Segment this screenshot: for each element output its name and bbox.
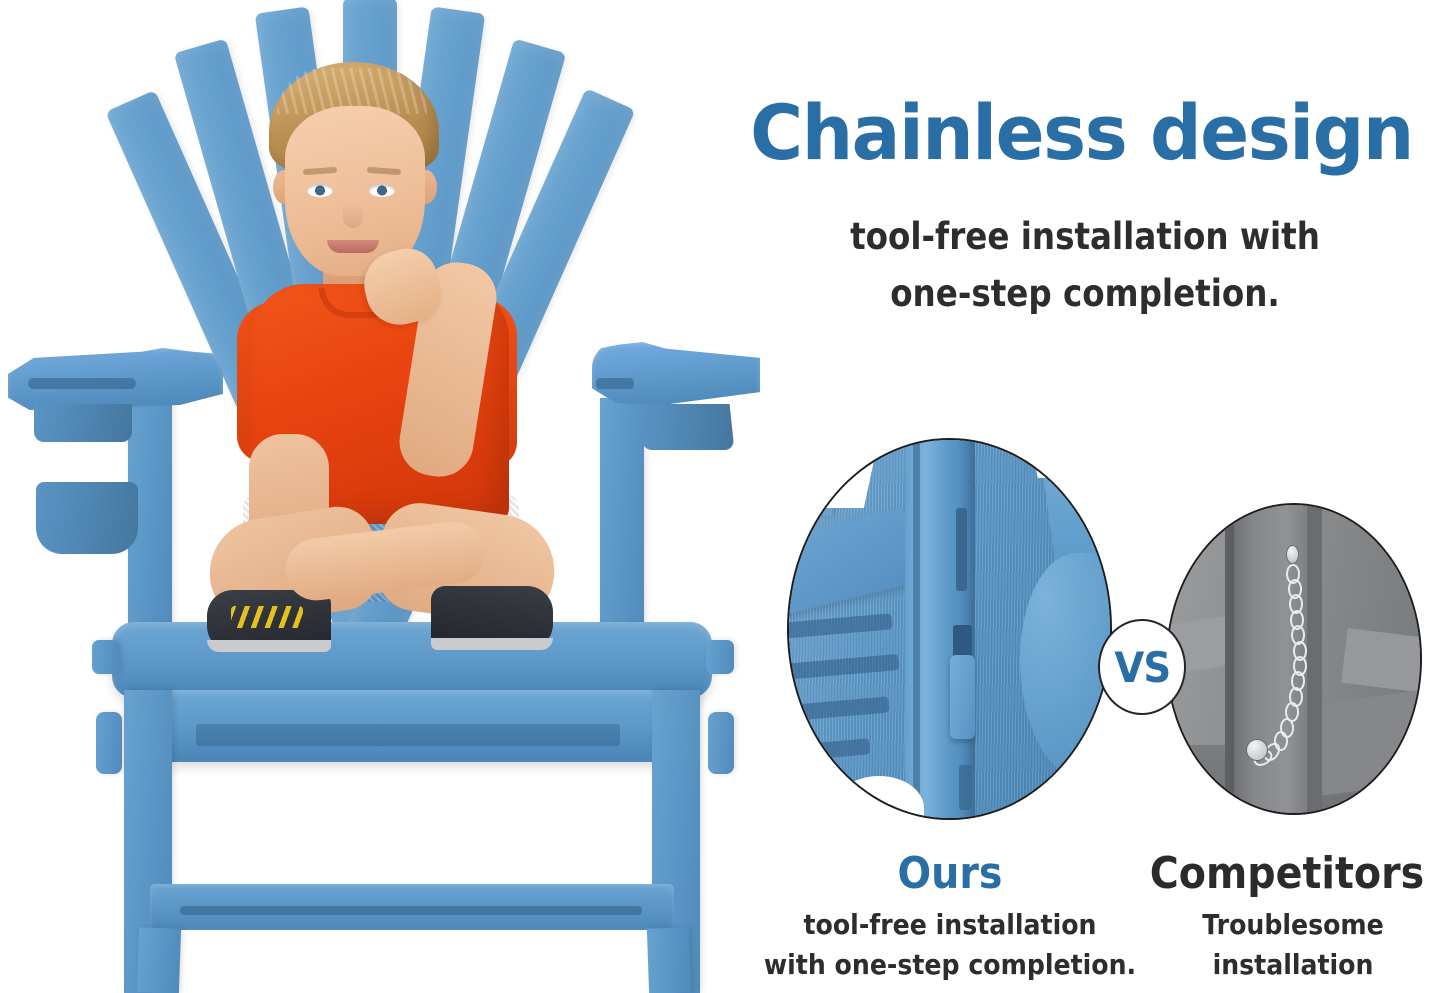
armrest-left-support xyxy=(34,404,132,442)
eye-right xyxy=(369,184,395,197)
shoe-sole-left xyxy=(207,640,331,652)
ours-chair-joint-art xyxy=(789,440,1110,818)
background-gap xyxy=(1035,788,1107,820)
post-slot-lower xyxy=(953,625,972,659)
competitors-description-line-1: Troublesome xyxy=(1202,908,1384,941)
lower-slot xyxy=(959,765,972,810)
competitors-photo-circle xyxy=(1166,503,1422,815)
product-photo xyxy=(0,0,760,993)
center-post-groove xyxy=(913,438,920,820)
armrest-right-groove xyxy=(596,378,634,389)
vs-badge: VS xyxy=(1098,619,1186,715)
subheadline-line-1: tool-free installation with xyxy=(850,215,1320,258)
competitors-title: Competitors xyxy=(1144,848,1430,899)
product-marketing-image: Chainless design tool-free installation … xyxy=(0,0,1445,993)
competitors-chain-art xyxy=(1168,505,1420,813)
shoe-right xyxy=(431,586,553,650)
shoelace-left xyxy=(231,606,303,628)
shoe-sole-right xyxy=(431,638,553,650)
child-model xyxy=(215,62,545,652)
armrest-left-groove xyxy=(28,378,136,389)
nose xyxy=(343,204,363,228)
pivot-knob-left xyxy=(92,640,120,674)
headline: Chainless design xyxy=(736,95,1427,171)
post-slot-upper xyxy=(956,508,968,591)
pivot-knob-right xyxy=(706,640,734,674)
ours-description-line-2: with one-step completion. xyxy=(763,945,1137,985)
lower-stretcher-groove xyxy=(180,906,642,915)
competitors-description-line-2: installation xyxy=(1164,945,1421,985)
ours-description: tool-free installation with one-step com… xyxy=(763,905,1137,985)
ours-description-line-1: tool-free installation xyxy=(804,908,1097,941)
seat-apron-shadow xyxy=(196,724,620,746)
mouth xyxy=(327,240,379,253)
armrest-right xyxy=(592,342,760,408)
armrest-right-support xyxy=(638,404,735,450)
eye-left xyxy=(307,184,333,197)
cup-holder-left xyxy=(36,482,138,554)
ours-photo-circle xyxy=(787,438,1112,820)
rear-leg-left xyxy=(137,927,181,993)
vs-label: VS xyxy=(1114,643,1170,692)
background-gap xyxy=(1028,438,1082,478)
chain-end-pin xyxy=(1246,739,1268,761)
subheadline-line-2: one-step completion. xyxy=(781,265,1388,322)
folding-latch-right xyxy=(708,712,734,774)
chair-leg-right xyxy=(1307,503,1322,815)
rear-leg-right xyxy=(647,927,691,993)
locking-tab xyxy=(950,655,976,738)
competitors-description: Troublesome installation xyxy=(1164,905,1421,985)
ours-title: Ours xyxy=(788,848,1112,899)
folding-latch-left xyxy=(96,712,122,774)
floor-right xyxy=(1319,688,1422,797)
subheadline: tool-free installation with one-step com… xyxy=(781,208,1388,323)
